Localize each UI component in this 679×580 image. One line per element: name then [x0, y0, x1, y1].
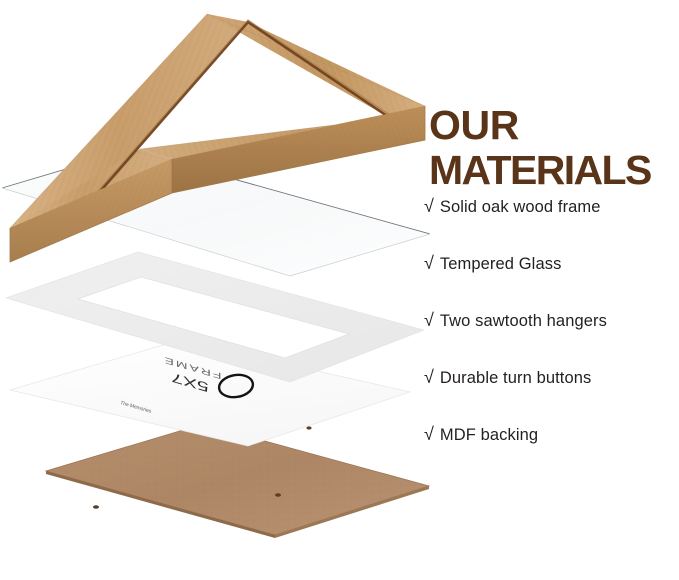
feature-label: Two sawtooth hangers: [440, 311, 607, 331]
mdf-hole: [275, 493, 281, 497]
materials-feature-list: √ Solid oak wood frame √ Tempered Glass …: [424, 196, 679, 481]
heading-line-2: MATERIALS: [429, 148, 679, 193]
list-item: √ Durable turn buttons: [424, 367, 679, 424]
mdf-hole: [93, 505, 99, 509]
list-item: √ Solid oak wood frame: [424, 196, 679, 253]
check-icon: √: [424, 424, 434, 444]
feature-label: MDF backing: [440, 425, 538, 445]
page-title: OUR MATERIALS: [429, 103, 679, 193]
list-item: √ MDF backing: [424, 424, 679, 481]
feature-label: Tempered Glass: [440, 254, 562, 274]
list-item: √ Two sawtooth hangers: [424, 310, 679, 367]
heading-line-1: OUR: [429, 102, 519, 148]
check-icon: √: [424, 253, 434, 273]
check-icon: √: [424, 196, 434, 216]
feature-label: Solid oak wood frame: [440, 197, 601, 217]
materials-text-panel: OUR MATERIALS √ Solid oak wood frame √ T…: [424, 0, 679, 580]
check-icon: √: [424, 310, 434, 330]
list-item: √ Tempered Glass: [424, 253, 679, 310]
product-exploded-illustration: 5X7 FRAME The Memories: [0, 0, 430, 580]
mdf-hole: [306, 426, 311, 429]
check-icon: √: [424, 367, 434, 387]
feature-label: Durable turn buttons: [440, 368, 592, 388]
